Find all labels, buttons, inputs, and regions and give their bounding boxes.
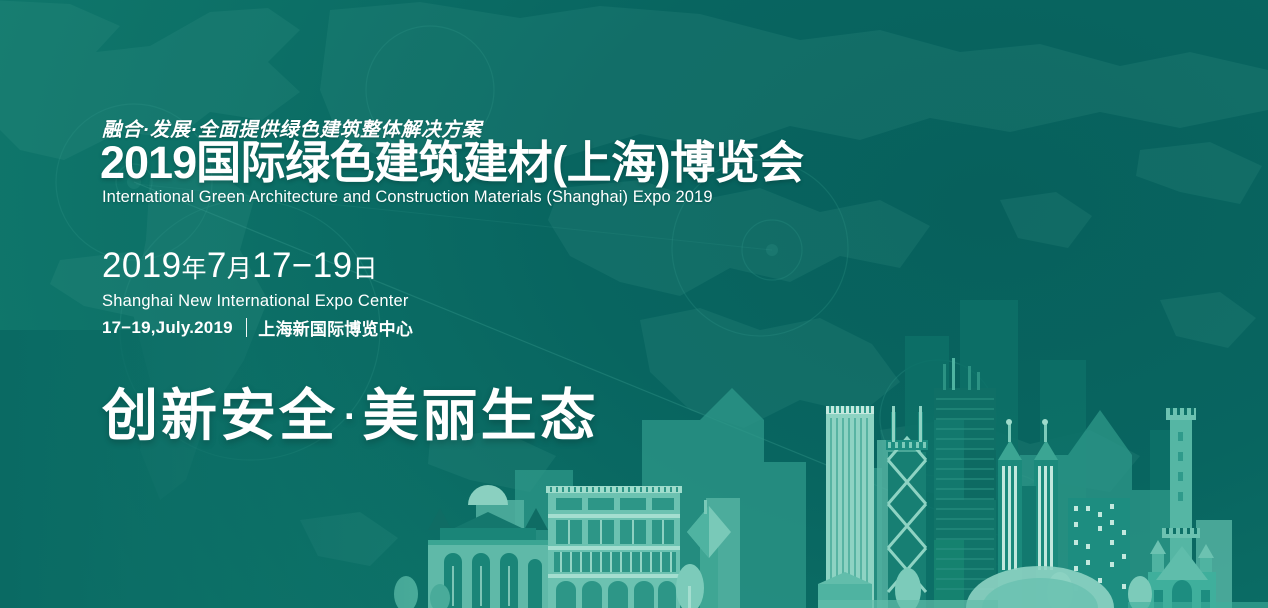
venue-name-chinese: 上海新国际博览中心	[258, 315, 413, 340]
date-month-unit: 月	[227, 255, 252, 283]
event-date-cn: 2019年7月17−19日	[102, 246, 378, 289]
slogan-left: 创新安全	[102, 384, 338, 447]
slogan-right: 美丽生态	[363, 384, 599, 447]
page-title: 2019国际绿色建筑建材(上海)博览会	[100, 138, 804, 188]
date-day-unit: 日	[352, 255, 377, 283]
title-rest: 国际绿色建筑建材(上海)博览会	[196, 137, 803, 188]
venue-detail-row: 17−19,July.2019 上海新国际博览中心	[102, 315, 413, 340]
title-year: 2019	[100, 137, 196, 188]
slogan-separator: ·	[344, 396, 357, 438]
date-days: 17−19	[252, 246, 352, 285]
date-year: 2019	[102, 246, 181, 285]
event-date-english: 17−19,July.2019	[102, 318, 233, 338]
subtitle-english: International Green Architecture and Con…	[102, 188, 713, 207]
expo-banner-poster: 融合·发展·全面提供绿色建筑整体解决方案 2019国际绿色建筑建材(上海)博览会…	[0, 0, 1268, 608]
date-month: 7	[207, 246, 227, 285]
event-slogan: 创新安全·美丽生态	[102, 385, 599, 448]
poster-text-block: 融合·发展·全面提供绿色建筑整体解决方案 2019国际绿色建筑建材(上海)博览会…	[100, 0, 960, 608]
venue-name-english: Shanghai New International Expo Center	[102, 292, 409, 311]
vertical-divider	[246, 318, 248, 337]
date-year-unit: 年	[181, 255, 206, 283]
